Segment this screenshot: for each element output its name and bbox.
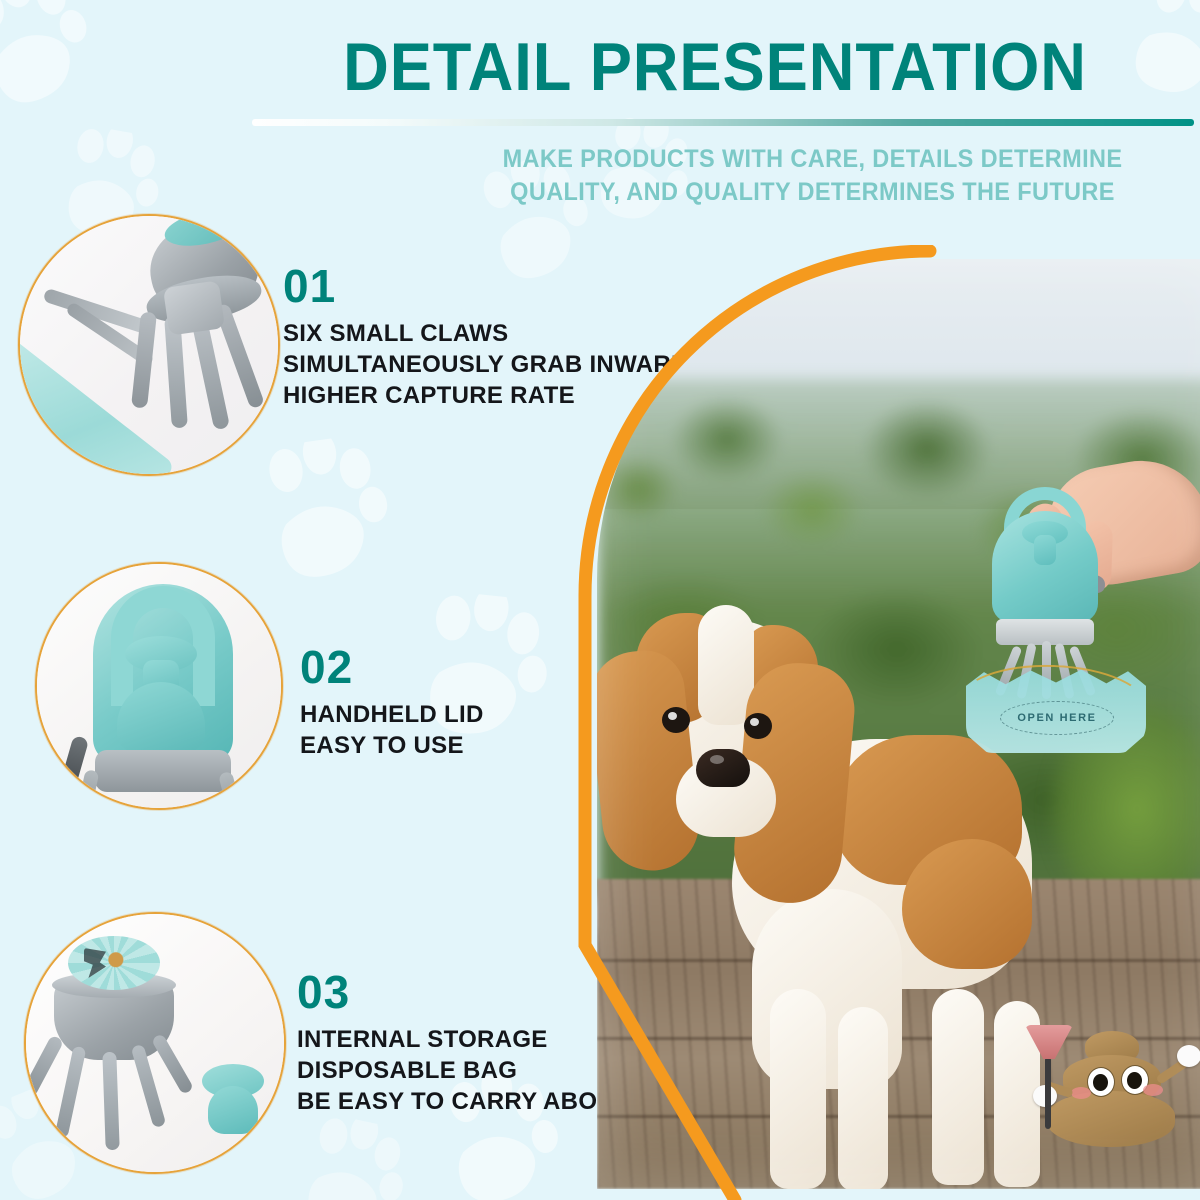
claw-mechanism-image [20, 216, 278, 474]
paw-print-icon [289, 1110, 416, 1200]
header-subtitle: MAKE PRODUCTS WITH CARE, DETAILS DETERMI… [462, 143, 1162, 209]
feature-line: EASY TO USE [300, 730, 484, 761]
handheld-lid-image [37, 564, 281, 808]
feature-number-02: 02 [300, 643, 484, 691]
feature-thumbnail-03[interactable] [24, 912, 286, 1174]
internal-storage-image [26, 914, 284, 1172]
feature-thumbnail-01[interactable] [18, 214, 280, 476]
header-divider [252, 119, 1194, 126]
header: DETAIL PRESENTATION MAKE PRODUCTS WITH C… [0, 0, 1200, 215]
subtitle-line-1: MAKE PRODUCTS WITH CARE, DETAILS DETERMI… [462, 143, 1162, 176]
feature-line: HANDHELD LID [300, 699, 484, 730]
feature-text-02: 02 HANDHELD LID EASY TO USE [300, 643, 484, 761]
orange-arc-border [575, 245, 1200, 1200]
feature-thumbnail-02[interactable] [35, 562, 283, 810]
page-title: DETAIL PRESENTATION [273, 28, 1157, 106]
subtitle-line-2: QUALITY, AND QUALITY DETERMINES THE FUTU… [462, 176, 1162, 209]
infographic-canvas: DETAIL PRESENTATION MAKE PRODUCTS WITH C… [0, 0, 1200, 1200]
hero-photo-panel: OPEN HERE [575, 245, 1200, 1200]
